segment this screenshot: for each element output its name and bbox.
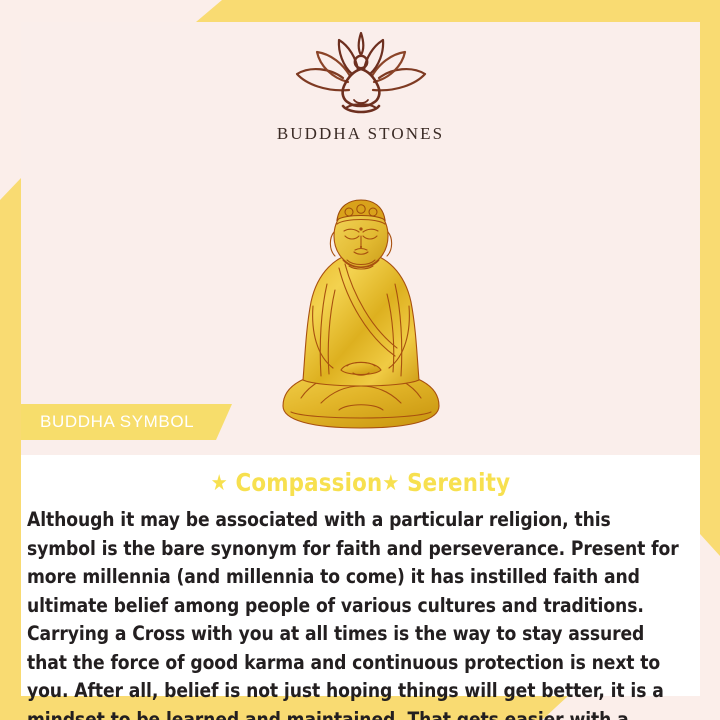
brand-block: BUDDHA STONES — [21, 30, 700, 144]
decor-top-bar — [196, 0, 720, 22]
buddha-symbol-ribbon: BUDDHA SYMBOL — [21, 404, 232, 440]
article-heading: ★ Compassion★ Serenity — [38, 468, 683, 497]
hero-panel: BUDDHA STONES — [21, 22, 700, 455]
golden-seated-buddha-illustration — [261, 198, 461, 433]
ribbon-label: BUDDHA SYMBOL — [40, 412, 194, 432]
star-icon-right: ★ — [382, 471, 399, 496]
decor-right-bar — [700, 0, 720, 556]
article-heading-part-one: Compassion — [235, 468, 382, 497]
decor-left-bar — [0, 178, 21, 720]
article-card: ★ Compassion★ Serenity Although it may b… — [21, 455, 700, 696]
lotus-meditation-icon — [286, 30, 436, 122]
brand-name: BUDDHA STONES — [21, 124, 700, 144]
article-heading-part-two: Serenity — [407, 468, 510, 497]
article-body-text: Although it may be associated with a par… — [27, 506, 684, 720]
star-icon-left: ★ — [211, 471, 228, 496]
poster-canvas: BUDDHA STONES — [0, 0, 720, 720]
hero-image — [21, 198, 700, 433]
